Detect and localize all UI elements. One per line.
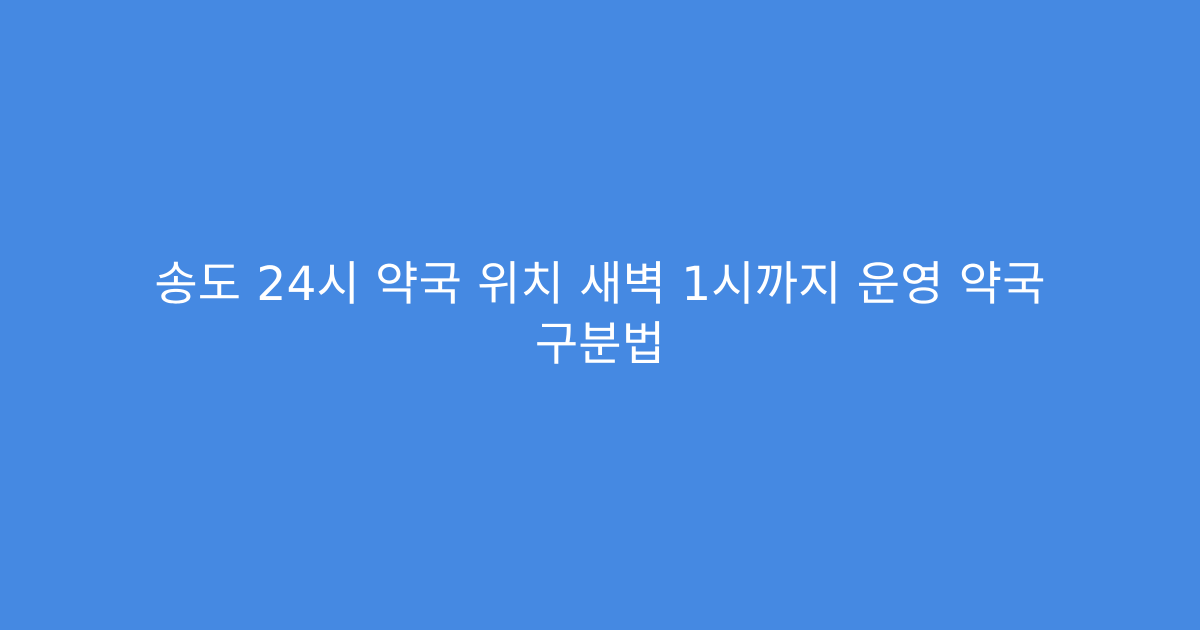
- title-block: 송도 24시 약국 위치 새벽 1시까지 운영 약국 구분법: [100, 255, 1100, 375]
- page-title: 송도 24시 약국 위치 새벽 1시까지 운영 약국 구분법: [100, 255, 1100, 375]
- og-share-card: 송도 24시 약국 위치 새벽 1시까지 운영 약국 구분법: [0, 0, 1200, 630]
